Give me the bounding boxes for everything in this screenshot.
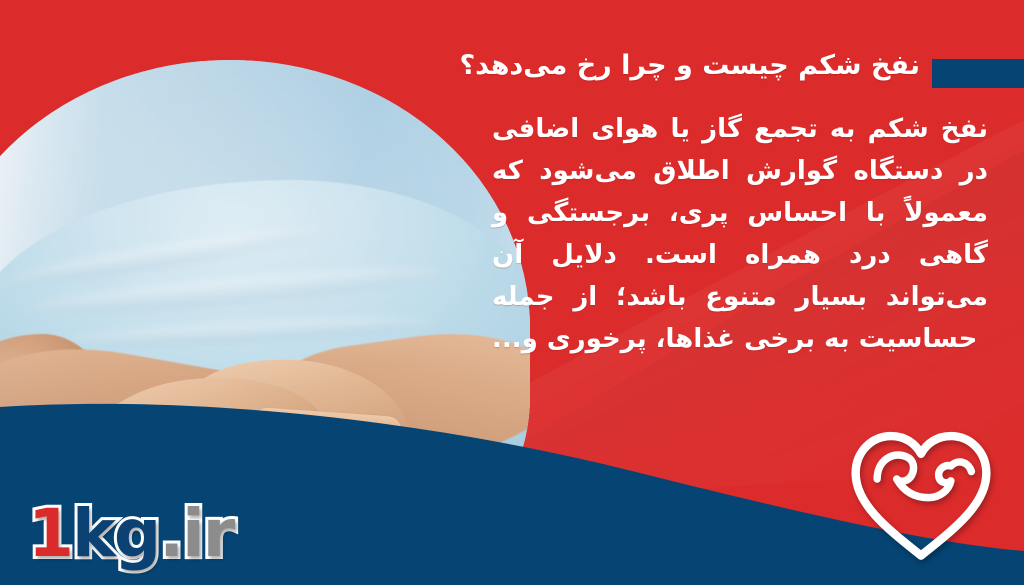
- page-title-row: نفخ شکم چیست و چرا رخ می‌دهد؟: [0, 40, 1024, 92]
- logo-char-ir: ir: [182, 495, 233, 572]
- page-title: نفخ شکم چیست و چرا رخ می‌دهد؟: [459, 40, 920, 92]
- heart-flex-arm-logo[interactable]: [846, 423, 996, 563]
- title-accent-bar: [932, 59, 1024, 88]
- logo-char-1: 1: [28, 495, 72, 572]
- article-summary-text: نفخ شکم به تجمع گاز یا هوای اضافی در دست…: [492, 108, 988, 360]
- site-logo[interactable]: 1kg.ir: [28, 501, 233, 567]
- heart-icon: [846, 423, 996, 563]
- logo-char-kg: kg: [72, 495, 159, 572]
- health-article-banner: نفخ شکم چیست و چرا رخ می‌دهد؟ نفخ شکم به…: [0, 0, 1024, 585]
- logo-char-dot: .: [159, 495, 182, 572]
